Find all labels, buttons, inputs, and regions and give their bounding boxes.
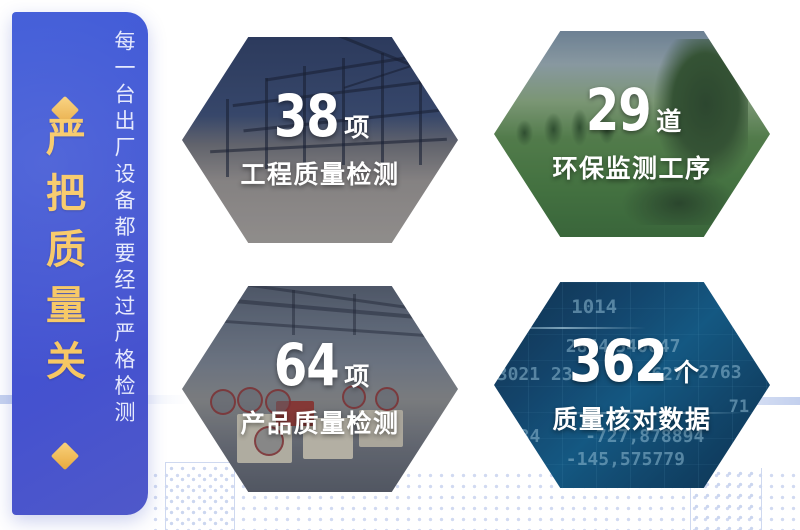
stat-card-label: 29 道 环保监测工序 — [494, 31, 770, 237]
stat-description: 工程质量检测 — [240, 155, 399, 191]
stat-description: 质量核对数据 — [552, 400, 711, 436]
stat-unit: 个 — [674, 361, 699, 386]
bg-number: 367 — [502, 449, 535, 470]
stat-card-quality-verification-data[interactable]: 692 1014 2844 540647 3021 23 627 2763 68… — [494, 282, 770, 488]
banner-subline: 每一台出厂设备都要经过严格检测 — [113, 30, 134, 500]
stat-description: 产品质量检测 — [240, 404, 399, 440]
dot-pattern-left-box — [165, 462, 235, 530]
banner-headline: 严把质量关 — [42, 116, 82, 436]
stat-unit: 项 — [344, 116, 369, 141]
stat-number: 38 — [273, 89, 338, 144]
bg-number: 692 — [505, 301, 539, 323]
diamond-ornament-bottom-icon — [51, 442, 79, 470]
stat-number: 362 — [569, 334, 666, 389]
left-blue-banner: 严把质量关 每一台出厂设备都要经过严格检测 — [12, 12, 148, 515]
stat-card-engineering-quality-inspection[interactable]: 38 项 工程质量检测 — [182, 37, 458, 243]
stat-unit: 项 — [344, 365, 369, 390]
promo-banner-canvas: 严把质量关 每一台出厂设备都要经过严格检测 38 项 工程质量检测 — [0, 0, 800, 530]
stat-card-environmental-monitoring-process[interactable]: 29 道 环保监测工序 — [494, 31, 770, 237]
stat-unit: 道 — [656, 110, 681, 135]
stat-card-label: 38 项 工程质量检测 — [182, 37, 458, 243]
stat-description: 环保监测工序 — [552, 149, 711, 185]
stat-card-label: 362 个 质量核对数据 — [494, 282, 770, 488]
stat-number: 29 — [585, 83, 650, 138]
stat-number: 64 — [273, 338, 338, 393]
